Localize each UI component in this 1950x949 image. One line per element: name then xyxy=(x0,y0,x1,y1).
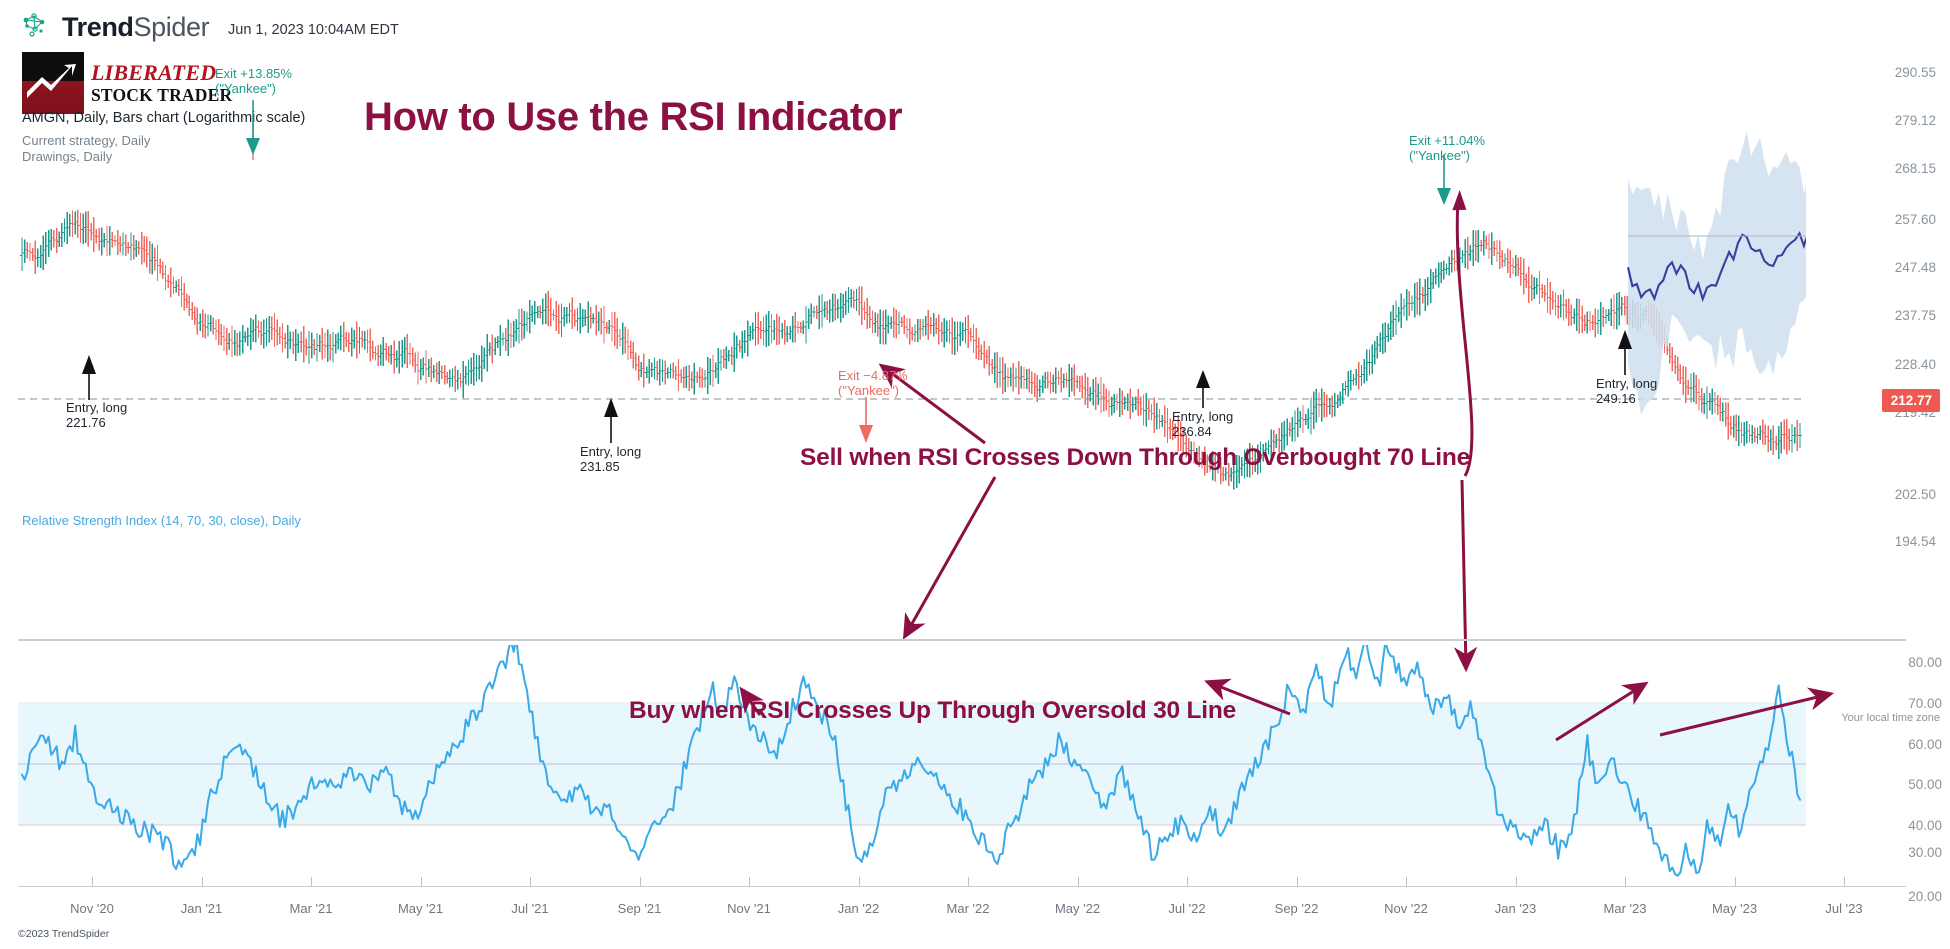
x-tick-mark-5 xyxy=(640,877,641,886)
x-tick-mark-13 xyxy=(1516,877,1517,886)
exit-label-3: Exit +11.04% ("Yankee") xyxy=(1409,133,1485,164)
entry-long-label-1: Entry, long 221.76 xyxy=(66,400,127,431)
x-tick-mark-16 xyxy=(1844,877,1845,886)
exit-marker-1 xyxy=(246,100,260,160)
rsi-ytick-2: 60.00 xyxy=(1908,737,1942,752)
last-price-badge: 212.77 xyxy=(1882,389,1940,412)
x-tick-mark-9 xyxy=(1078,877,1079,886)
price-ytick-0: 290.55 xyxy=(1895,65,1936,80)
x-tick-label-6: Nov '21 xyxy=(727,901,771,916)
x-tick-mark-7 xyxy=(859,877,860,886)
entry-long-label-3-line1: Entry, long xyxy=(1172,409,1233,424)
exit-label-1-line1: Exit +13.85% xyxy=(215,66,292,81)
entry-long-label-4-line2: 249.16 xyxy=(1596,391,1657,406)
exit-label-2-line1: Exit −4.87% xyxy=(838,368,908,383)
x-tick-mark-4 xyxy=(530,877,531,886)
entry-long-label-2-line1: Entry, long xyxy=(580,444,641,459)
x-tick-mark-0 xyxy=(92,877,93,886)
rsi-ytick-0: 80.00 xyxy=(1908,655,1942,670)
pane-divider xyxy=(18,639,1906,641)
rsi-ytick-1: 70.00 xyxy=(1908,696,1942,711)
x-tick-mark-8 xyxy=(968,877,969,886)
exit-label-2: Exit −4.87% ("Yankee") xyxy=(838,368,908,399)
x-tick-mark-3 xyxy=(421,877,422,886)
x-tick-label-5: Sep '21 xyxy=(618,901,662,916)
entry-long-label-4: Entry, long 249.16 xyxy=(1596,376,1657,407)
x-tick-label-3: May '21 xyxy=(398,901,443,916)
x-tick-label-14: Mar '23 xyxy=(1604,901,1647,916)
x-tick-label-4: Jul '21 xyxy=(511,901,548,916)
x-tick-label-15: May '23 xyxy=(1712,901,1757,916)
exit-marker-2 xyxy=(859,397,873,443)
entry-long-label-3: Entry, long 236.84 xyxy=(1172,409,1233,440)
callout-buy: Buy when RSI Crosses Up Through Oversold… xyxy=(629,697,1236,725)
x-tick-mark-6 xyxy=(749,877,750,886)
price-ytick-3: 257.60 xyxy=(1895,212,1936,227)
price-ytick-8: 202.50 xyxy=(1895,487,1936,502)
exit-label-3-line2: ("Yankee") xyxy=(1409,148,1485,163)
copyright-text: ©2023 TrendSpider xyxy=(18,928,109,940)
entry-long-label-2: Entry, long 231.85 xyxy=(580,444,641,475)
x-tick-mark-12 xyxy=(1406,877,1407,886)
x-tick-label-8: Mar '22 xyxy=(947,901,990,916)
rsi-ytick-5: 30.00 xyxy=(1908,845,1942,860)
price-ytick-5: 237.75 xyxy=(1895,308,1936,323)
trendspider-chart-screenshot: TrendSpider Jun 1, 2023 10:04AM EDT LIBE… xyxy=(0,0,1950,949)
entry-long-label-2-line2: 231.85 xyxy=(580,459,641,474)
exit-label-1-line2: ("Yankee") xyxy=(215,81,292,96)
entry-long-marker-1 xyxy=(82,355,96,400)
x-tick-mark-11 xyxy=(1297,877,1298,886)
price-ytick-2: 268.15 xyxy=(1895,161,1936,176)
timezone-note: Your local time zone xyxy=(1841,712,1940,724)
x-tick-mark-1 xyxy=(202,877,203,886)
x-tick-label-2: Mar '21 xyxy=(290,901,333,916)
x-tick-label-13: Jan '23 xyxy=(1495,901,1537,916)
x-tick-mark-14 xyxy=(1625,877,1626,886)
callout-sell: Sell when RSI Crosses Down Through Overb… xyxy=(800,444,1470,472)
entry-long-label-4-line1: Entry, long xyxy=(1596,376,1657,391)
x-tick-label-11: Sep '22 xyxy=(1275,901,1319,916)
exit-label-1: Exit +13.85% ("Yankee") xyxy=(215,66,292,97)
x-axis-line xyxy=(18,886,1906,887)
x-tick-mark-10 xyxy=(1187,877,1188,886)
rsi-ytick-6: 20.00 xyxy=(1908,889,1942,904)
x-tick-mark-15 xyxy=(1735,877,1736,886)
entry-long-label-3-line2: 236.84 xyxy=(1172,424,1233,439)
price-ytick-9: 194.54 xyxy=(1895,534,1936,549)
rsi-ytick-4: 40.00 xyxy=(1908,818,1942,833)
rsi-pane xyxy=(18,638,1806,876)
rsi-ytick-3: 50.00 xyxy=(1908,777,1942,792)
x-tick-label-1: Jan '21 xyxy=(181,901,223,916)
x-tick-mark-2 xyxy=(311,877,312,886)
x-tick-label-12: Nov '22 xyxy=(1384,901,1428,916)
x-tick-label-10: Jul '22 xyxy=(1168,901,1205,916)
entry-long-marker-2 xyxy=(604,398,618,443)
exit-label-3-line1: Exit +11.04% xyxy=(1409,133,1485,148)
rsi-legend: Relative Strength Index (14, 70, 30, clo… xyxy=(22,513,301,528)
chart-canvas xyxy=(0,0,1950,949)
x-tick-label-7: Jan '22 xyxy=(838,901,880,916)
price-ytick-1: 279.12 xyxy=(1895,113,1936,128)
entry-long-label-1-line2: 221.76 xyxy=(66,415,127,430)
price-ytick-6: 228.40 xyxy=(1895,357,1936,372)
bollinger-band-overlay xyxy=(1628,131,1905,419)
x-tick-label-0: Nov '20 xyxy=(70,901,114,916)
price-ytick-4: 247.48 xyxy=(1895,260,1936,275)
x-tick-label-16: Jul '23 xyxy=(1825,901,1862,916)
x-tick-label-9: May '22 xyxy=(1055,901,1100,916)
entry-long-marker-3 xyxy=(1196,370,1210,408)
sell-arrow-to-rsi-left xyxy=(905,477,995,636)
exit-label-2-line2: ("Yankee") xyxy=(838,383,908,398)
entry-long-label-1-line1: Entry, long xyxy=(66,400,127,415)
